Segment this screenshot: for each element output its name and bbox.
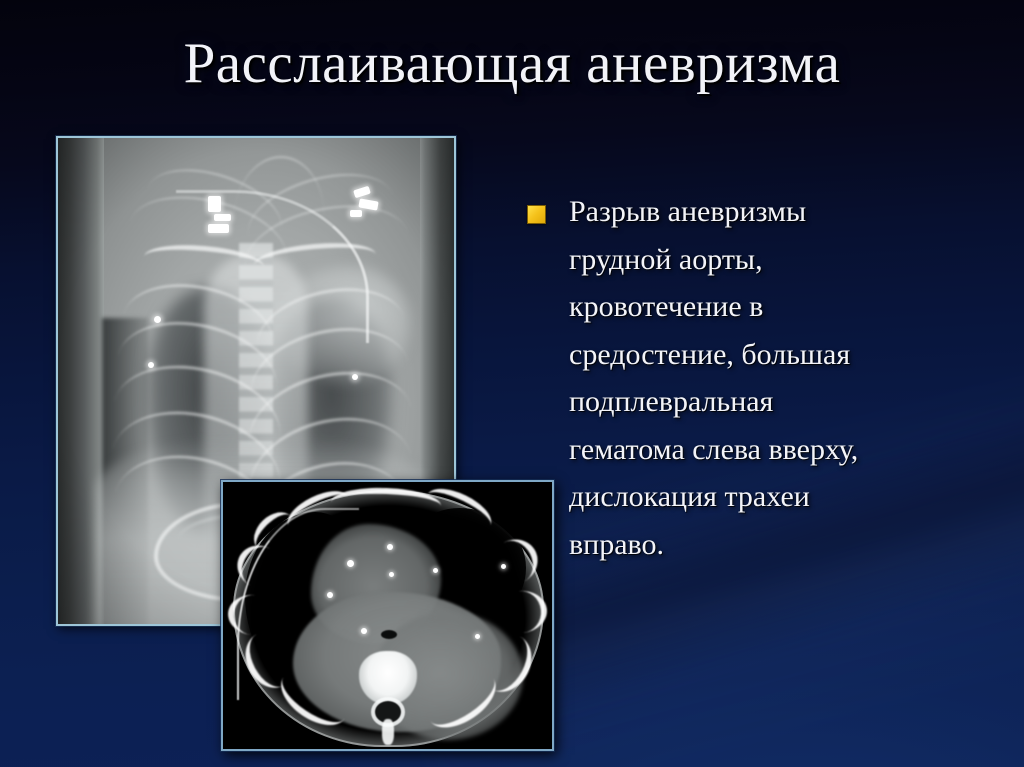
- ct-contrast-dot: [389, 572, 394, 577]
- xray-metal-clip: [350, 210, 362, 217]
- ct-contrast-dot: [327, 592, 333, 598]
- bullet-line: дислокация трахеи: [569, 473, 858, 521]
- bullet-line: кровотечение в: [569, 283, 858, 331]
- ct-field: [223, 482, 552, 749]
- ct-spinous-process: [382, 719, 394, 745]
- xray-metal-clip: [154, 316, 161, 323]
- thorax-ct-image: [221, 480, 554, 751]
- ct-contrast-dot: [347, 560, 354, 567]
- xray-metal-clip: [208, 224, 229, 233]
- slide-title: Расслаивающая аневризма: [0, 34, 1024, 94]
- ct-contrast-dot: [387, 544, 393, 550]
- bullet-line: средостение, большая: [569, 331, 858, 379]
- bullet-line: подплевральная: [569, 378, 858, 426]
- xray-metal-clip: [214, 214, 231, 221]
- content-text-block: Разрыв аневризмы грудной аорты, кровотеч…: [527, 188, 997, 568]
- xray-metal-clip: [208, 196, 221, 212]
- bullet-line: гематома слева вверху,: [569, 426, 858, 474]
- bullet-line: Разрыв аневризмы: [569, 188, 858, 236]
- square-bullet-icon: [527, 205, 546, 224]
- bullet-text: Разрыв аневризмы грудной аорты, кровотеч…: [569, 188, 858, 568]
- ct-contrast-dot: [433, 568, 438, 573]
- bullet-item: Разрыв аневризмы грудной аорты, кровотеч…: [527, 188, 997, 568]
- ct-contrast-dot: [501, 564, 506, 569]
- xray-metal-clip: [148, 362, 154, 368]
- ct-contrast-dot: [361, 628, 367, 634]
- bullet-line: грудной аорты,: [569, 236, 858, 284]
- xray-metal-clip: [352, 374, 358, 380]
- presentation-slide: Расслаивающая аневризма: [0, 0, 1024, 767]
- ct-air-locule: [381, 630, 397, 639]
- bullet-line: вправо.: [569, 521, 858, 569]
- ct-contrast-dot: [475, 634, 480, 639]
